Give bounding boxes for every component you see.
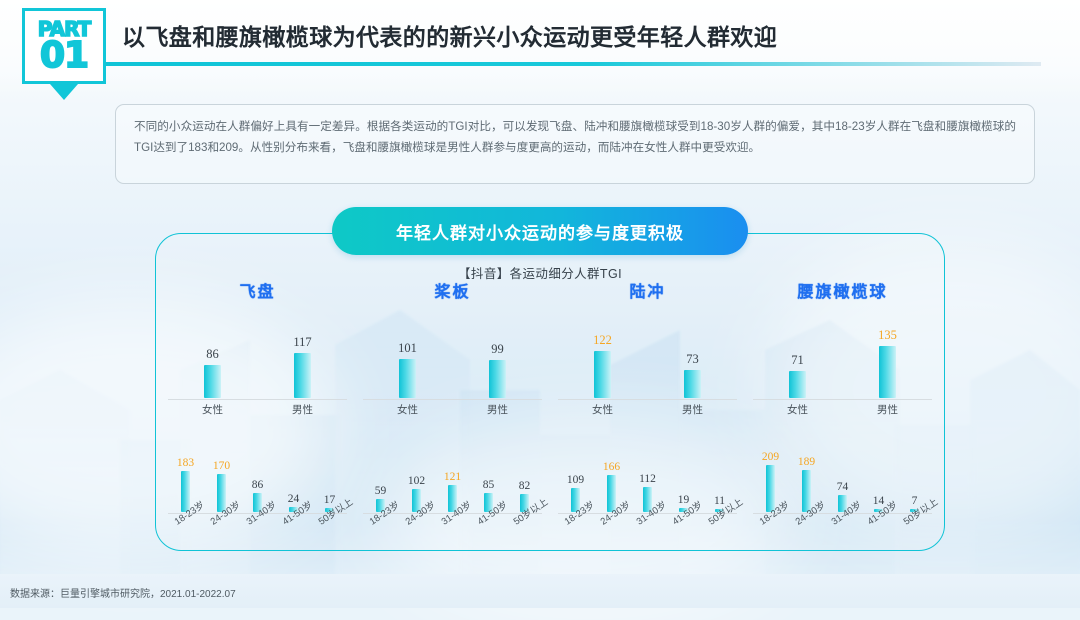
gender-category-label: 女性 [581,402,625,422]
age-bar-value: 86 [252,479,264,491]
gender-axis-line [558,399,737,400]
gender-category-label: 男性 [476,402,520,422]
gender-chart: 86117女性男性 [160,312,355,424]
age-chart: 109166112191118-23岁24-30岁31-40岁41-50岁50岁… [550,436,745,556]
gender-bar[interactable] [294,353,311,398]
gender-axis-line [363,399,542,400]
age-category-label: 50岁以上 [512,514,538,556]
gender-axis-labels: 女性男性 [355,402,550,422]
age-category-label: 50岁以上 [317,514,343,556]
gender-chart: 71135女性男性 [745,312,940,424]
gender-bar-column[interactable]: 101 [386,341,430,398]
gender-bar[interactable] [684,370,701,398]
age-category-label: 31-40岁 [635,514,661,556]
age-axis-labels: 18-23岁24-30岁31-40岁41-50岁50岁以上 [164,514,351,556]
age-bar-value: 183 [177,457,194,469]
gender-category-label: 女性 [776,402,820,422]
age-category-label: 18-23岁 [758,514,784,556]
age-category-label: 50岁以上 [707,514,733,556]
age-bar-value: 170 [213,460,230,472]
sport-title: 桨板 [355,282,550,304]
gender-bar-column[interactable]: 122 [581,333,625,398]
part-badge-arrow-icon [50,84,78,100]
part-badge-number: 01 [40,39,88,73]
age-category-label: 24-30岁 [599,514,625,556]
gender-bar-value: 135 [878,328,897,343]
sport-title: 飞盘 [160,282,355,304]
age-bar-value: 74 [837,481,849,493]
age-bar-value: 112 [639,473,656,485]
part-badge: PART 01 [22,8,106,84]
gender-axis-labels: 女性男性 [160,402,355,422]
chart-banner: 年轻人群对小众运动的参与度更积极 [332,207,748,255]
age-bar-value: 82 [519,480,531,492]
gender-bar-column[interactable]: 99 [476,342,520,398]
page-title: 以飞盘和腰旗橄榄球为代表的的新兴小众运动更受年轻人群欢迎 [122,14,1042,60]
sport-title: 腰旗橄榄球 [745,282,940,304]
age-bar-value: 121 [444,471,461,483]
gender-bar[interactable] [399,359,416,398]
sport-title: 陆冲 [550,282,745,304]
age-category-label: 41-50岁 [476,514,502,556]
age-category-label: 24-30岁 [404,514,430,556]
gender-bar-value: 73 [686,352,699,367]
chart-subtitle: 【抖音】各运动细分人群TGI [0,263,1080,282]
age-category-label: 50岁以上 [902,514,928,556]
data-source-note: 数据来源：巨量引擎城市研究院，2021.01-2022.07 [10,585,236,600]
gender-bars: 86117 [160,316,355,398]
age-category-label: 24-30岁 [209,514,235,556]
age-bar-value: 209 [762,451,779,463]
age-chart: 18317086241718-23岁24-30岁31-40岁41-50岁50岁以… [160,436,355,556]
age-bar-value: 189 [798,456,815,468]
gender-bar-column[interactable]: 86 [191,347,235,398]
description-box: 不同的小众运动在人群偏好上具有一定差异。根据各类运动的TGI对比，可以发现飞盘、… [115,104,1035,184]
gender-bar-value: 71 [791,353,804,368]
gender-axis-labels: 女性男性 [550,402,745,422]
gender-category-label: 男性 [866,402,910,422]
gender-axis-line [168,399,347,400]
age-chart: 2091897414718-23岁24-30岁31-40岁41-50岁50岁以上 [745,436,940,556]
sport-group: 飞盘86117女性男性18317086241718-23岁24-30岁31-40… [160,282,355,537]
gender-chart: 12273女性男性 [550,312,745,424]
age-category-label: 31-40岁 [440,514,466,556]
gender-category-label: 男性 [671,402,715,422]
age-bar-value: 59 [375,485,387,497]
age-axis-labels: 18-23岁24-30岁31-40岁41-50岁50岁以上 [749,514,936,556]
gender-bars: 10199 [355,316,550,398]
gender-bar-column[interactable]: 117 [281,335,325,398]
sport-group: 陆冲12273女性男性109166112191118-23岁24-30岁31-4… [550,282,745,537]
gender-bar-value: 86 [206,347,219,362]
age-bar-value: 102 [408,475,425,487]
age-category-label: 18-23岁 [173,514,199,556]
age-category-label: 18-23岁 [563,514,589,556]
gender-axis-line [753,399,932,400]
gender-bars: 12273 [550,316,745,398]
gender-bars: 71135 [745,316,940,398]
sport-group: 腰旗橄榄球71135女性男性2091897414718-23岁24-30岁31-… [745,282,940,537]
gender-bar-column[interactable]: 135 [866,328,910,398]
gender-bar-value: 99 [491,342,504,357]
gender-bar[interactable] [789,371,806,398]
age-category-label: 41-50岁 [866,514,892,556]
gender-bar-value: 101 [398,341,417,356]
age-category-label: 18-23岁 [368,514,394,556]
age-category-label: 41-50岁 [281,514,307,556]
age-bar-value: 109 [567,474,584,486]
gender-bar[interactable] [879,346,896,398]
gender-category-label: 女性 [191,402,235,422]
age-category-label: 31-40岁 [830,514,856,556]
age-axis-labels: 18-23岁24-30岁31-40岁41-50岁50岁以上 [359,514,546,556]
gender-bar-value: 122 [593,333,612,348]
gender-category-label: 女性 [386,402,430,422]
gender-bar[interactable] [594,351,611,398]
gender-bar-value: 117 [293,335,311,350]
age-category-label: 24-30岁 [794,514,820,556]
sport-groups: 飞盘86117女性男性18317086241718-23岁24-30岁31-40… [160,282,940,537]
age-bar-value: 166 [603,461,620,473]
gender-bar-column[interactable]: 73 [671,352,715,398]
gender-bar[interactable] [489,360,506,398]
header-divider [106,62,1041,66]
gender-chart: 10199女性男性 [355,312,550,424]
gender-axis-labels: 女性男性 [745,402,940,422]
age-axis-labels: 18-23岁24-30岁31-40岁41-50岁50岁以上 [554,514,741,556]
age-category-label: 31-40岁 [245,514,271,556]
page-header: PART 01 以飞盘和腰旗橄榄球为代表的的新兴小众运动更受年轻人群欢迎 [0,0,1080,96]
description-text: 不同的小众运动在人群偏好上具有一定差异。根据各类运动的TGI对比，可以发现飞盘、… [134,116,1016,158]
age-category-label: 41-50岁 [671,514,697,556]
sport-group: 桨板10199女性男性59102121858218-23岁24-30岁31-40… [355,282,550,537]
gender-category-label: 男性 [281,402,325,422]
age-chart: 59102121858218-23岁24-30岁31-40岁41-50岁50岁以… [355,436,550,556]
gender-bar[interactable] [204,365,221,398]
gender-bar-column[interactable]: 71 [776,353,820,398]
age-bar-value: 85 [483,479,495,491]
